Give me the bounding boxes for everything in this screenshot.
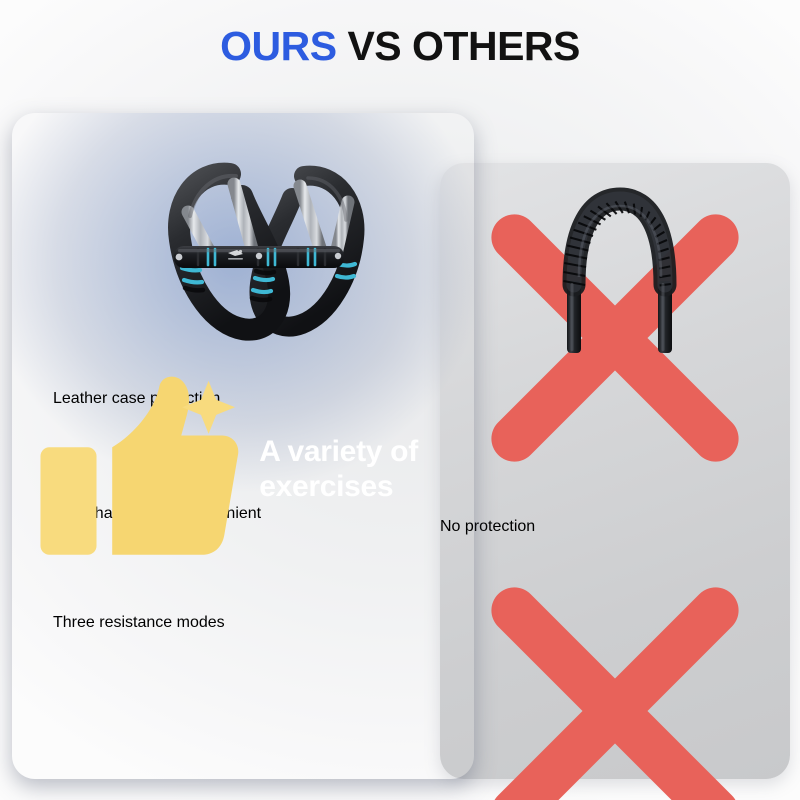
ours-feature-label: Three resistance modes <box>53 614 225 632</box>
comparison-panels: No protection Single exercise method Not… <box>0 0 800 800</box>
others-panel: No protection Single exercise method Not… <box>440 163 790 779</box>
ours-feature-row: Three resistance modes <box>36 595 466 651</box>
ours-feature-label: A variety of exercises <box>259 435 466 503</box>
others-feature-row: Single exercise method <box>440 536 790 800</box>
x-circle-icon <box>440 500 790 517</box>
ours-product-image <box>122 128 392 378</box>
thumbs-up-icon <box>36 371 242 568</box>
ours-panel: Leather case protection Detachable, more… <box>12 113 474 779</box>
ours-feature-row: A variety of exercises <box>36 371 466 568</box>
others-product-image <box>545 173 695 358</box>
